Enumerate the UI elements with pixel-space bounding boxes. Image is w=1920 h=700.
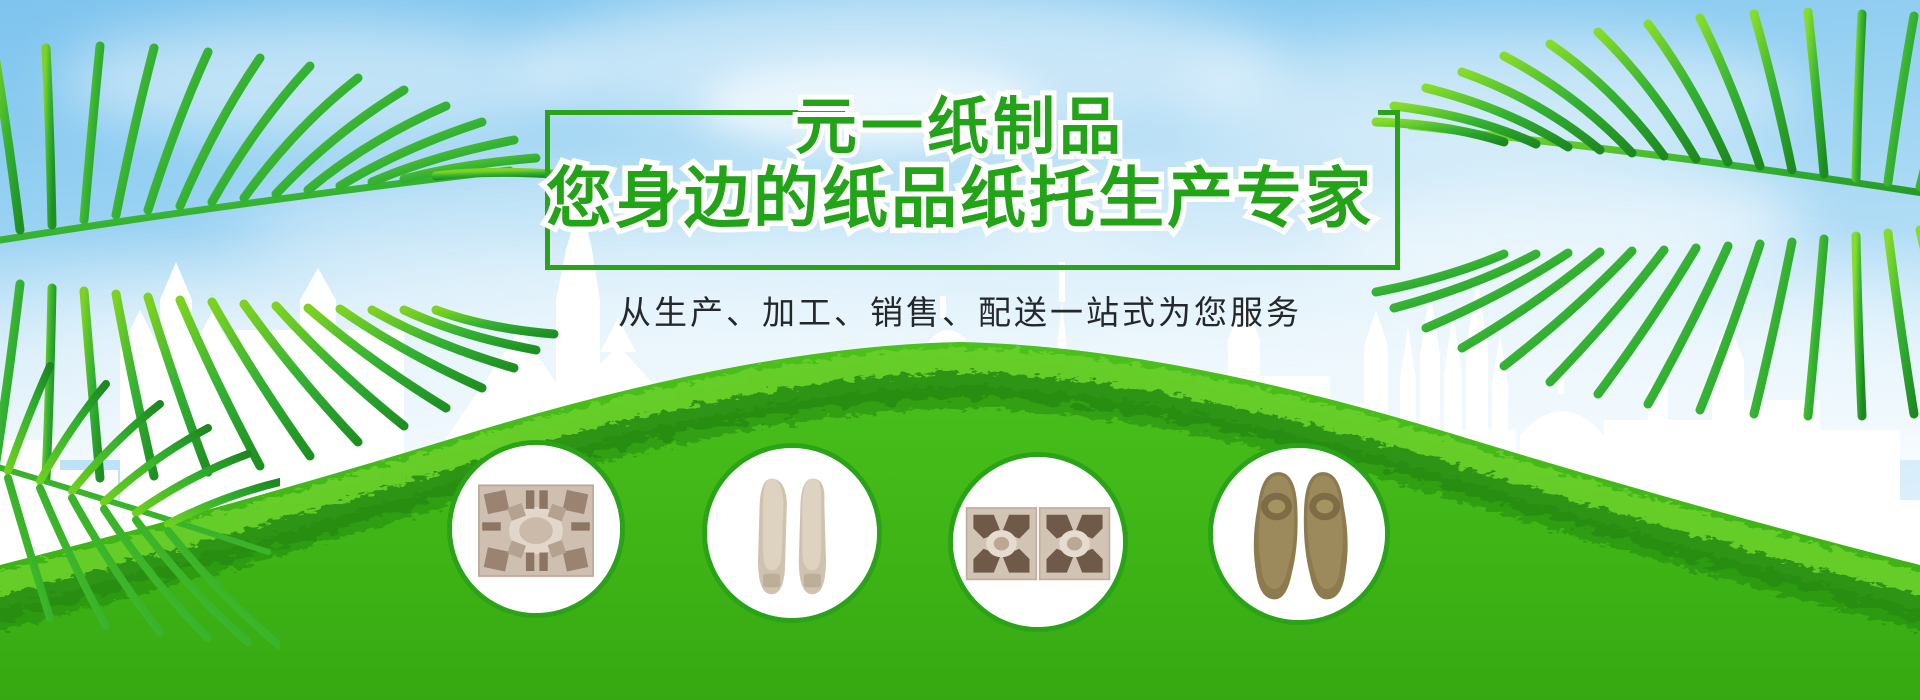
promo-banner: 元一纸制品 您身边的纸品纸托生产专家 从生产、加工、销售、配送一站式为您服务	[0, 0, 1920, 700]
product-circle-3[interactable]	[948, 452, 1128, 632]
product-circle-2[interactable]	[702, 443, 882, 623]
molded-pulp-shoe-tree-pair-icon	[1213, 448, 1385, 620]
product-circle-row	[0, 0, 1920, 700]
product-circle-1[interactable]	[447, 440, 625, 618]
molded-pulp-shoe-insert-pair-icon	[707, 448, 877, 618]
product-circle-4[interactable]	[1208, 443, 1390, 625]
molded-pulp-tray-double-icon	[953, 457, 1123, 627]
molded-pulp-tray-square-icon	[452, 445, 620, 613]
